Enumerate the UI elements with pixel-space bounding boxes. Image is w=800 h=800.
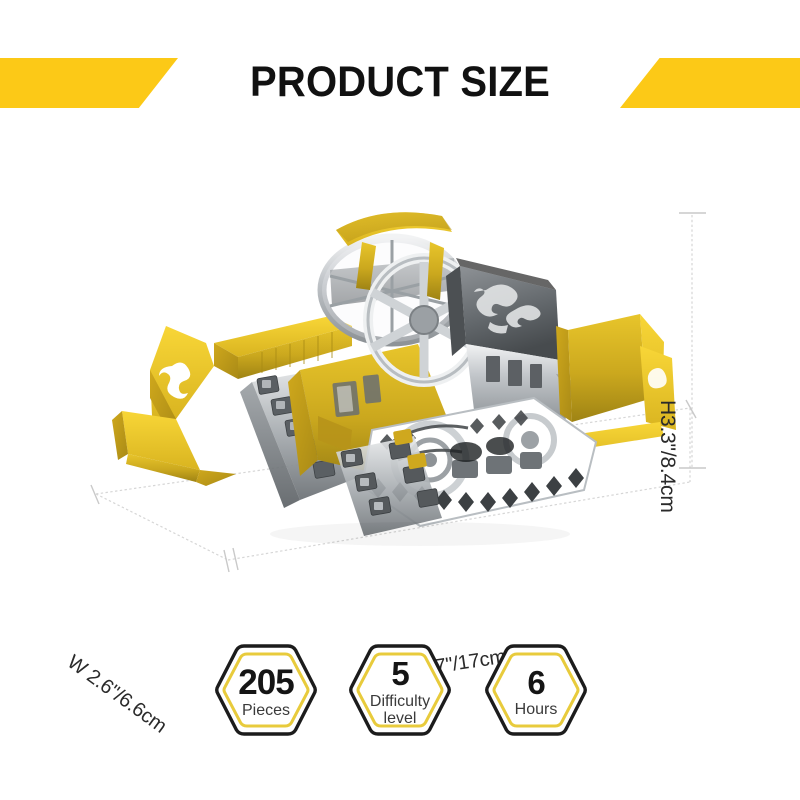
badge-hours-text: 6 Hours [484,640,588,744]
spec-badge-row: 205 Pieces 5 Difficulty level 6 Hours [0,640,800,750]
badge-hours-caption: Hours [515,702,558,719]
badge-pieces: 205 Pieces [214,640,318,744]
product-stage: H3.3"/8.4cm L 6.7"/17cm W 2.6"/6.6cm [0,130,800,630]
badge-difficulty-text: 5 Difficulty level [348,640,452,744]
badge-difficulty-caption-line2: level [370,711,430,728]
badge-hours-value: 6 [527,666,544,699]
badge-pieces-value: 205 [238,665,293,700]
product-image [0,130,800,630]
badge-difficulty-value: 5 [391,657,408,690]
badge-hours: 6 Hours [484,640,588,744]
page-header: PRODUCT SIZE [0,58,800,108]
badge-difficulty-caption: Difficulty level [370,694,430,728]
badge-difficulty: 5 Difficulty level [348,640,452,744]
model-cab [446,258,574,422]
dimension-height-label: H3.3"/8.4cm [655,400,679,513]
page-title: PRODUCT SIZE [28,58,772,108]
badge-pieces-text: 205 Pieces [214,640,318,744]
badge-pieces-caption: Pieces [242,703,290,720]
badge-difficulty-caption-line1: Difficulty [370,694,430,711]
